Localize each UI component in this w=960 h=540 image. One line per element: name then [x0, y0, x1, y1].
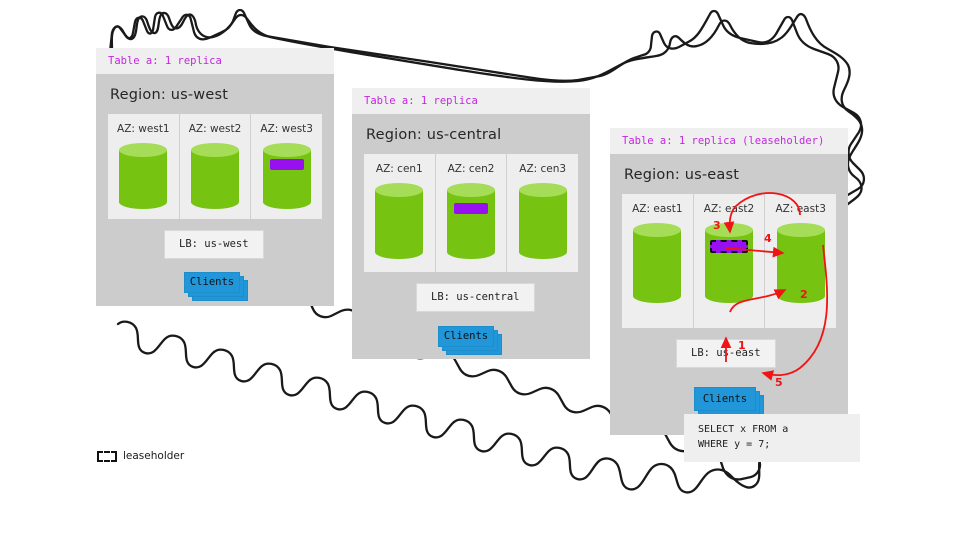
step-number-4: 4 [764, 232, 772, 245]
clients-stack-us-east[interactable]: Clients [694, 387, 764, 417]
region-panel-us-east: Table a: 1 replica (leaseholder) Region:… [610, 128, 848, 435]
step-number-2: 2 [800, 288, 808, 301]
node-cylinder-cen1[interactable] [375, 183, 423, 259]
cylinder-top [519, 183, 567, 197]
az-row-us-east: AZ: east1 AZ: east2 [622, 194, 836, 328]
region-title-us-central: Region: us-central [352, 114, 590, 154]
cylinder-body [119, 150, 167, 202]
clients-label-us-east[interactable]: Clients [694, 387, 756, 411]
step-number-5: 5 [775, 376, 783, 389]
node-cylinder-east2[interactable] [705, 223, 753, 303]
az-cell-west2[interactable]: AZ: west2 [180, 114, 252, 219]
node-cylinder-cen2[interactable] [447, 183, 495, 259]
az-label-west1: AZ: west1 [117, 123, 170, 135]
az-cell-west3[interactable]: AZ: west3 [251, 114, 322, 219]
panel-body-us-east: Region: us-east AZ: east1 AZ: east2 [610, 154, 848, 435]
clients-stack-us-central[interactable]: Clients [438, 326, 502, 354]
az-cell-east1[interactable]: AZ: east1 [622, 194, 694, 328]
load-balancer-us-west[interactable]: LB: us-west [164, 230, 264, 259]
cylinder-body [777, 230, 825, 296]
leaseholder-swatch-icon [97, 451, 117, 462]
node-cylinder-west1[interactable] [119, 143, 167, 207]
clients-stack-us-west[interactable]: Clients [184, 272, 248, 300]
cylinder-top [447, 183, 495, 197]
cylinder-top [119, 143, 167, 157]
panel-header-us-west: Table a: 1 replica [96, 48, 334, 74]
az-label-cen3: AZ: cen3 [519, 163, 566, 175]
cylinder-top [777, 223, 825, 237]
clients-label-us-central[interactable]: Clients [438, 326, 494, 347]
legend: leaseholder [97, 450, 184, 462]
az-label-east3: AZ: east3 [775, 203, 825, 215]
region-panel-us-central: Table a: 1 replica Region: us-central AZ… [352, 88, 590, 359]
az-label-east2: AZ: east2 [704, 203, 754, 215]
node-cylinder-cen3[interactable] [519, 183, 567, 259]
region-title-us-east: Region: us-east [610, 154, 848, 194]
panel-header-us-central: Table a: 1 replica [352, 88, 590, 114]
az-label-west3: AZ: west3 [260, 123, 313, 135]
replica-marker-east2-leaseholder[interactable] [710, 240, 748, 253]
cylinder-top [263, 143, 311, 157]
clients-label-us-west[interactable]: Clients [184, 272, 240, 293]
az-label-west2: AZ: west2 [189, 123, 242, 135]
az-cell-west1[interactable]: AZ: west1 [108, 114, 180, 219]
cylinder-body [519, 190, 567, 252]
region-panel-us-west: Table a: 1 replica Region: us-west AZ: w… [96, 48, 334, 306]
cylinder-body [263, 150, 311, 202]
node-cylinder-east1[interactable] [633, 223, 681, 303]
az-cell-east3[interactable]: AZ: east3 [765, 194, 836, 328]
sql-query-box: SELECT x FROM a WHERE y = 7; [684, 414, 860, 462]
az-cell-cen3[interactable]: AZ: cen3 [507, 154, 578, 272]
panel-body-us-west: Region: us-west AZ: west1 AZ: west2 [96, 74, 334, 306]
panel-header-us-east: Table a: 1 replica (leaseholder) [610, 128, 848, 154]
az-cell-cen1[interactable]: AZ: cen1 [364, 154, 436, 272]
load-balancer-us-east[interactable]: LB: us-east [676, 339, 776, 368]
cylinder-top [191, 143, 239, 157]
az-label-cen2: AZ: cen2 [448, 163, 495, 175]
region-title-us-west: Region: us-west [96, 74, 334, 114]
load-balancer-us-central[interactable]: LB: us-central [416, 283, 535, 312]
panel-body-us-central: Region: us-central AZ: cen1 AZ: cen2 [352, 114, 590, 359]
replica-marker-west3[interactable] [270, 159, 304, 170]
replica-marker-cen2[interactable] [454, 203, 488, 214]
cylinder-body [633, 230, 681, 296]
step-number-3: 3 [713, 219, 721, 232]
diagram-canvas: Table a: 1 replica Region: us-west AZ: w… [0, 0, 960, 540]
legend-label: leaseholder [123, 450, 184, 462]
az-label-cen1: AZ: cen1 [376, 163, 423, 175]
cylinder-body [191, 150, 239, 202]
az-cell-east2[interactable]: AZ: east2 [694, 194, 766, 328]
step-number-1: 1 [738, 339, 746, 352]
az-label-east1: AZ: east1 [632, 203, 682, 215]
cylinder-body [375, 190, 423, 252]
node-cylinder-west3[interactable] [263, 143, 311, 207]
node-cylinder-west2[interactable] [191, 143, 239, 207]
az-row-us-west: AZ: west1 AZ: west2 [108, 114, 322, 219]
az-row-us-central: AZ: cen1 AZ: cen2 [364, 154, 578, 272]
cylinder-top [633, 223, 681, 237]
cylinder-top [375, 183, 423, 197]
az-cell-cen2[interactable]: AZ: cen2 [436, 154, 508, 272]
cylinder-body [447, 190, 495, 252]
